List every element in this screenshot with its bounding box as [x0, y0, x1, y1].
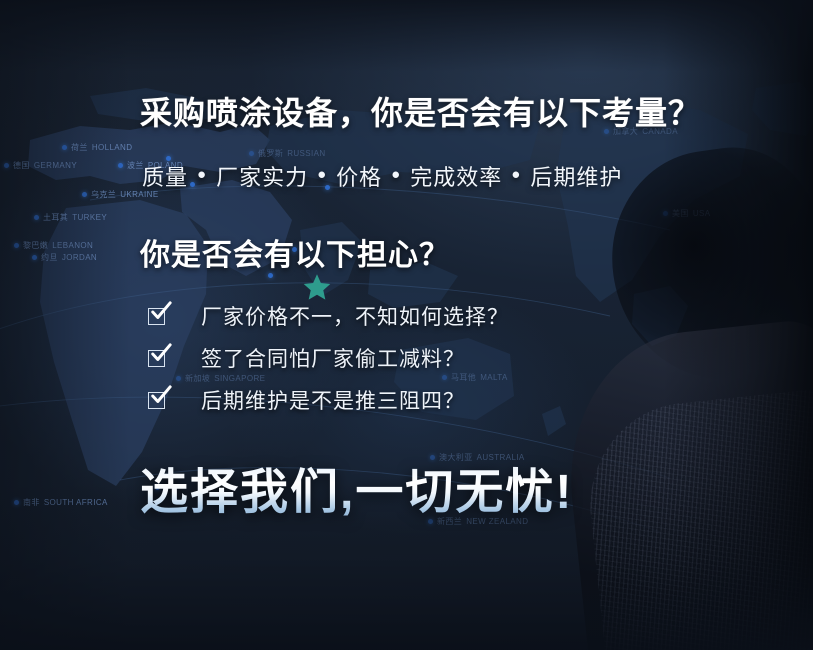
- feature-item-maintenance: 后期维护: [530, 160, 622, 192]
- checklist-item-label: 厂家价格不一，不知如何选择？: [201, 301, 509, 331]
- banner-content: 采购喷涂设备，你是否会有以下考量？ 质量 ● 厂家实力 ● 价格 ● 完成效率 …: [0, 0, 813, 650]
- checklist-item: 厂家价格不一，不知如何选择？: [148, 302, 509, 330]
- checklist-item-label: 后期维护是不是推三阻四？: [201, 385, 465, 415]
- concern-checklist: 厂家价格不一，不知如何选择？ 签了合同怕厂家偷工减料？ 后期维护是不是推三阻四？: [148, 302, 509, 414]
- bullet-separator-icon: ●: [197, 167, 207, 182]
- headline-secondary: 你是否会有以下担心？: [140, 230, 450, 274]
- bullet-separator-icon: ●: [391, 167, 401, 182]
- feature-list: 质量 ● 厂家实力 ● 价格 ● 完成效率 ● 后期维护: [142, 160, 622, 192]
- feature-item-efficiency: 完成效率: [410, 160, 502, 192]
- checkbox-checked-icon: [148, 308, 165, 325]
- feature-item-quality: 质量: [142, 160, 188, 192]
- promo-banner: 荷兰HOLLAND 波兰POLAND 德国GERMANY 乌克兰UKRAINE …: [0, 0, 813, 650]
- headline-primary: 采购喷涂设备，你是否会有以下考量？: [140, 88, 701, 134]
- feature-item-strength: 厂家实力: [216, 160, 308, 192]
- checkbox-checked-icon: [148, 350, 165, 367]
- checklist-item: 后期维护是不是推三阻四？: [148, 386, 509, 414]
- checkbox-checked-icon: [148, 392, 165, 409]
- bullet-separator-icon: ●: [511, 167, 521, 182]
- slogan-text: 选择我们,一切无忧!: [140, 452, 573, 522]
- checklist-item-label: 签了合同怕厂家偷工减料？: [201, 343, 465, 373]
- bullet-separator-icon: ●: [317, 167, 327, 182]
- feature-item-price: 价格: [336, 160, 382, 192]
- checklist-item: 签了合同怕厂家偷工减料？: [148, 344, 509, 372]
